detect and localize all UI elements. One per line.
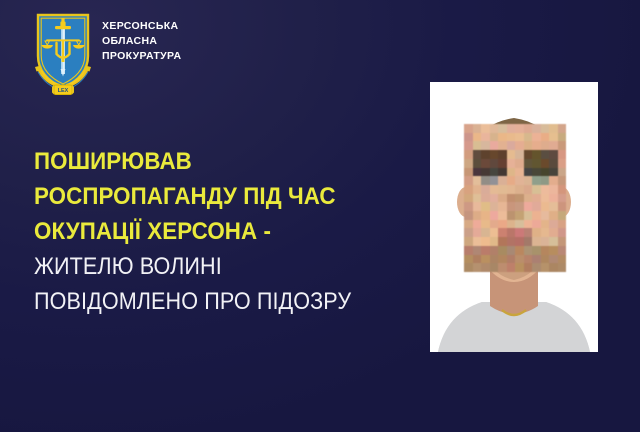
headline-line-3: ОКУПАЦІЇ ХЕРСОНА -	[34, 214, 369, 249]
coat-of-arms-icon: LEX	[34, 12, 92, 98]
headline-line-2: РОСПРОПАГАНДУ ПІД ЧАС	[34, 179, 369, 214]
subheadline-line-2: ПОВІДОМЛЕНО ПРО ПІДОЗРУ	[34, 284, 358, 319]
organization-logo: LEX ХЕРСОНСЬКА ОБЛАСНА ПРОКУРАТУРА	[34, 12, 181, 98]
press-release-poster: LEX ХЕРСОНСЬКА ОБЛАСНА ПРОКУРАТУРА ПОШИР…	[0, 0, 640, 432]
headline-block: ПОШИРЮВАВ РОСПРОПАГАНДУ ПІД ЧАС ОКУПАЦІЇ…	[34, 144, 394, 319]
suspect-photo	[430, 82, 598, 352]
subheadline-line-1: ЖИТЕЛЮ ВОЛИНІ	[34, 249, 358, 284]
lex-motto-text: LEX	[58, 88, 69, 94]
org-name-line-1: ХЕРСОНСЬКА	[102, 19, 181, 34]
organization-name: ХЕРСОНСЬКА ОБЛАСНА ПРОКУРАТУРА	[102, 12, 181, 64]
org-name-line-2: ОБЛАСНА	[102, 34, 181, 49]
headline-line-1: ПОШИРЮВАВ	[34, 144, 369, 179]
pixelation-censor-overlay	[464, 124, 566, 272]
org-name-line-3: ПРОКУРАТУРА	[102, 49, 181, 64]
